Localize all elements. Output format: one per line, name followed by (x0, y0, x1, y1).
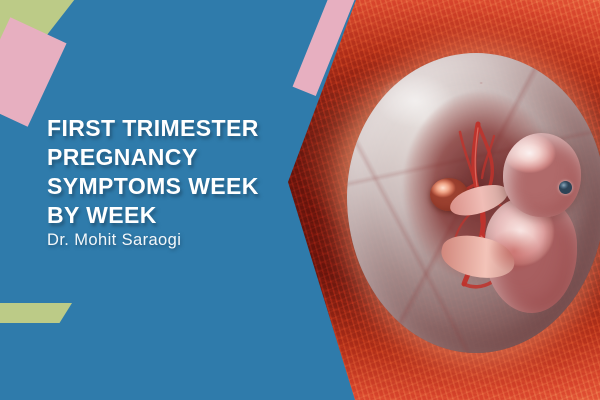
hero-text-column: First Trimester Pregnancy Symptoms Week … (0, 0, 330, 400)
embryo-figure (455, 125, 585, 325)
embryo-shading (479, 221, 549, 281)
embryo-eye (559, 181, 572, 194)
author-byline: Dr. Mohit Saraogi (47, 228, 267, 253)
article-hero-banner: First Trimester Pregnancy Symptoms Week … (0, 0, 600, 400)
page-title: First Trimester Pregnancy Symptoms Week … (47, 114, 277, 230)
embryo-head (503, 133, 581, 217)
